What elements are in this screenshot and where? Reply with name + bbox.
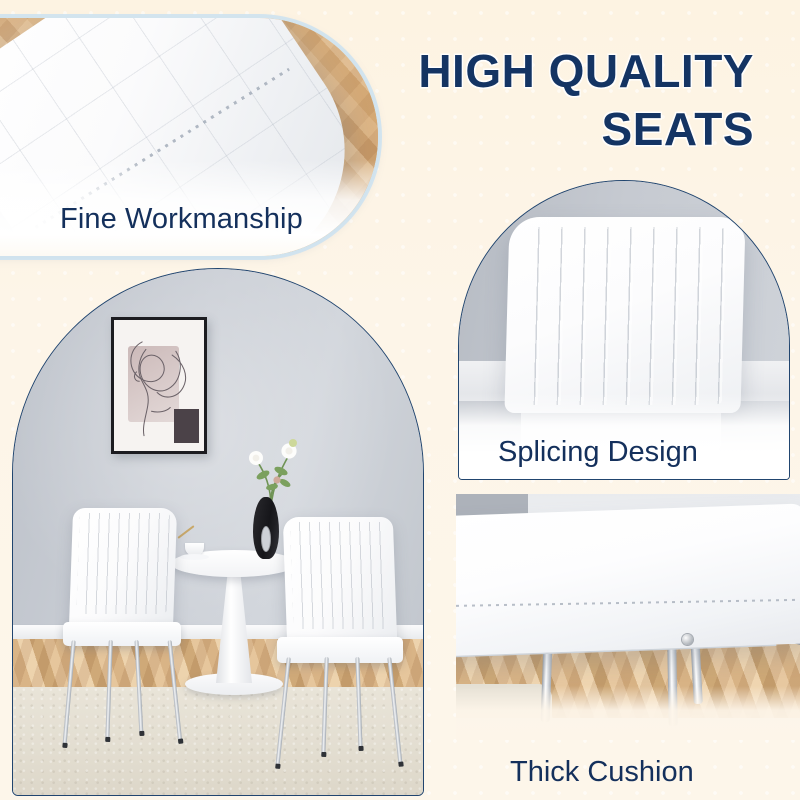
framed-artwork (111, 317, 207, 454)
chair-leg (321, 657, 328, 757)
frame-bolt (682, 634, 693, 645)
headline-line-2: SEATS (334, 106, 754, 152)
spliced-chair-back (504, 217, 745, 413)
chair-back (69, 508, 177, 630)
chair-leg (168, 640, 183, 744)
flowers (241, 431, 301, 507)
chair-leg (134, 640, 143, 736)
chair-leg (62, 640, 75, 748)
chair-leg (355, 657, 362, 751)
chair-right (271, 517, 411, 779)
chair-left (59, 508, 189, 758)
caption-splicing-design: Splicing Design (498, 436, 698, 469)
infographic-canvas: Fine Workmanship HIGH QUALITY SEATS (0, 0, 800, 800)
chair-back (283, 517, 397, 645)
chair-leg (387, 657, 402, 767)
chair-seat (277, 637, 403, 663)
chair-seat (63, 622, 181, 646)
panel-splicing-design (458, 180, 790, 480)
panel-thick-cushion (456, 494, 800, 740)
caption-thick-cushion: Thick Cushion (510, 756, 694, 789)
chair-leg (275, 657, 291, 769)
headline: HIGH QUALITY SEATS (334, 48, 754, 152)
chair-leg (105, 640, 113, 742)
artwork-line-drawing (114, 320, 204, 451)
headline-line-1: HIGH QUALITY (334, 48, 754, 94)
caption-fine-workmanship: Fine Workmanship (60, 203, 390, 236)
caption-fade-overlay (456, 686, 800, 740)
panel-room-scene (12, 268, 424, 796)
thick-seat-cushion (456, 503, 800, 656)
